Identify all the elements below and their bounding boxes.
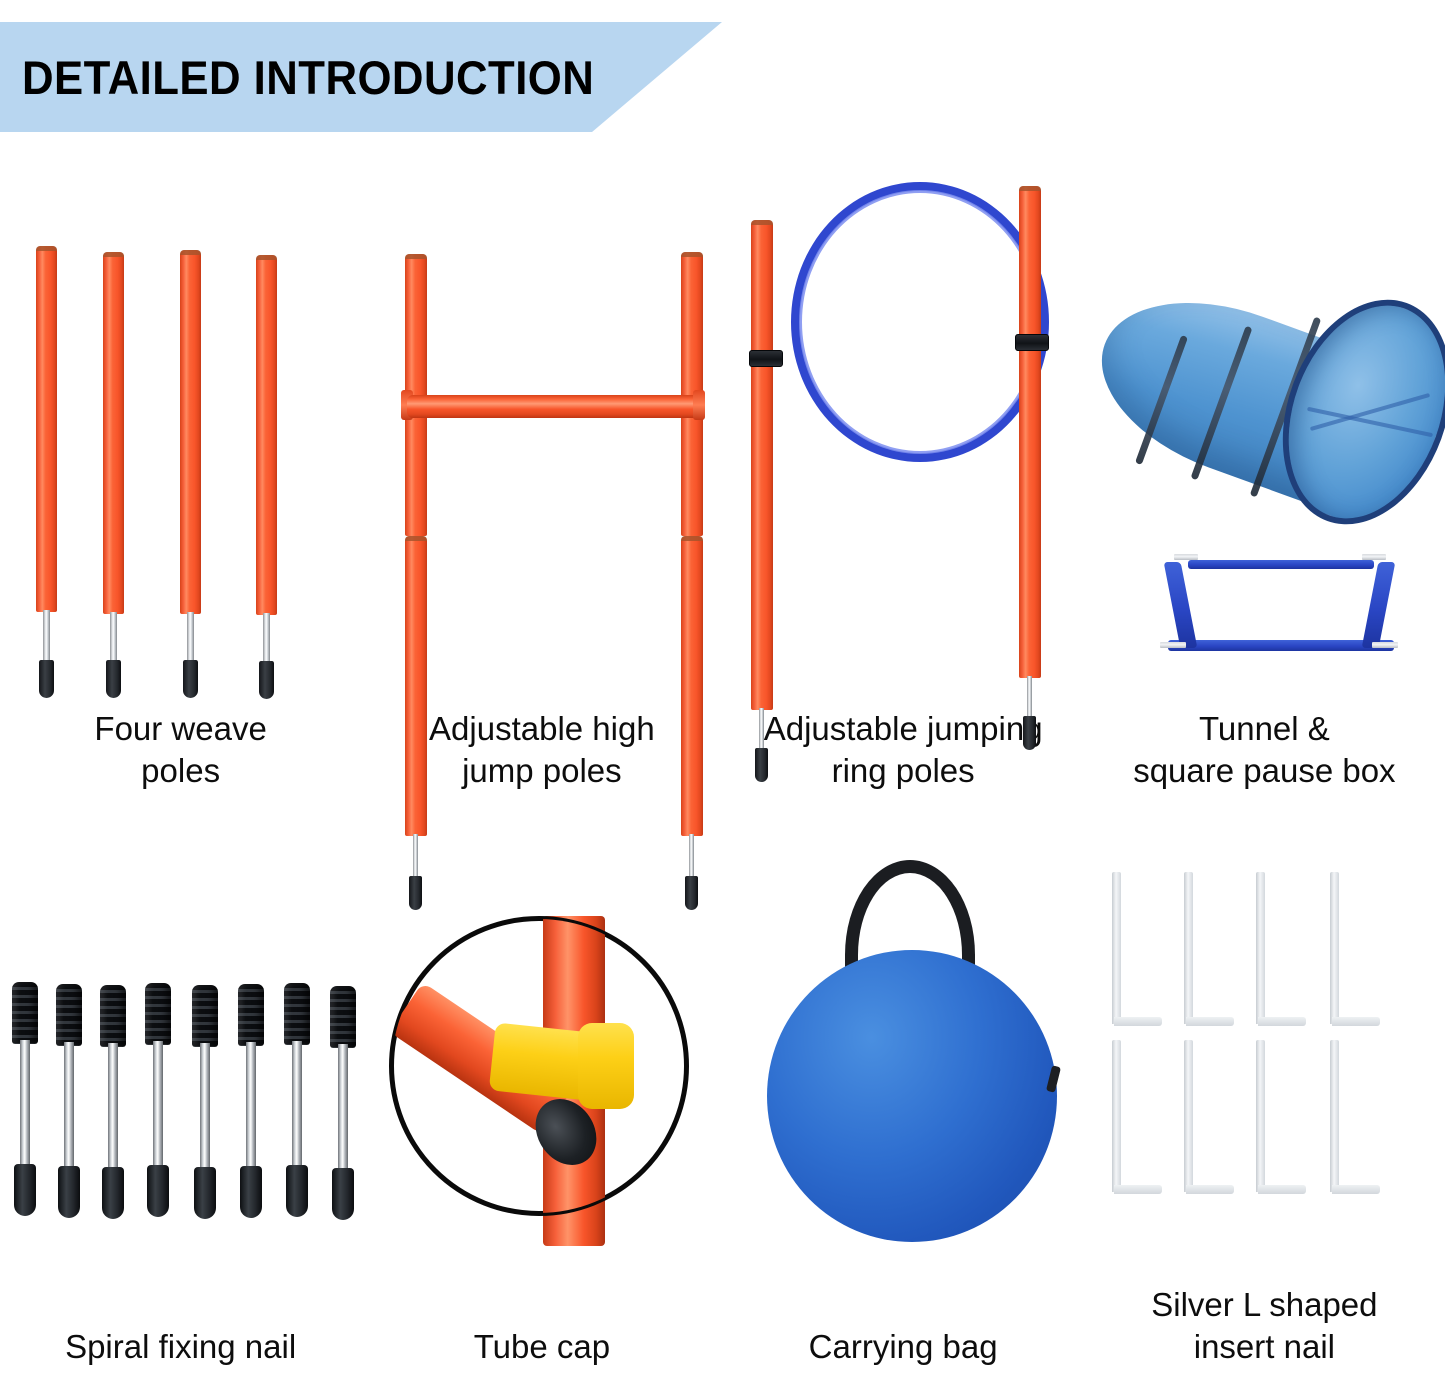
product-cell-l-nail: Silver L shaped insert nail xyxy=(1084,830,1445,1382)
black-cap-icon xyxy=(194,1167,216,1219)
silver-shaft-icon xyxy=(292,1041,302,1171)
black-rubber-tip-icon xyxy=(1023,716,1036,750)
caption-tube-cap: Tube cap xyxy=(468,1326,616,1368)
l-nail-foot xyxy=(1186,1017,1234,1026)
blue-tunnel-icon xyxy=(1092,270,1442,540)
silver-shaft-icon xyxy=(263,613,270,667)
l-nail-shaft xyxy=(1330,872,1339,1024)
silver-shaft-icon xyxy=(338,1044,348,1174)
threaded-head xyxy=(192,985,218,1047)
black-cap-icon xyxy=(58,1166,80,1218)
orange-pole-icon xyxy=(751,220,773,710)
tube-cap-illustration xyxy=(361,830,722,1326)
yellow-connector-icon xyxy=(578,1023,634,1109)
black-clip-icon xyxy=(749,350,783,367)
caption-high-jump: Adjustable high jump poles xyxy=(423,708,661,792)
black-rubber-tip-icon xyxy=(106,660,121,698)
blue-round-bag xyxy=(767,950,1057,1242)
crossbar-collar-right xyxy=(693,390,705,420)
l-nail-shaft xyxy=(1256,872,1265,1024)
l-nail-shaft xyxy=(1184,872,1193,1024)
silver-shaft-icon xyxy=(64,1042,74,1172)
pause-box-bar-top xyxy=(1188,560,1374,569)
corner-stake-icon xyxy=(1372,642,1398,648)
threaded-head xyxy=(56,984,82,1046)
orange-crossbar-icon xyxy=(407,395,705,418)
pause-box-bar-left xyxy=(1163,562,1197,648)
threaded-head xyxy=(145,983,171,1045)
threaded-head xyxy=(12,982,38,1044)
silver-shaft-icon xyxy=(153,1041,163,1171)
carrying-bag-illustration xyxy=(723,830,1084,1326)
orange-pole-icon xyxy=(681,536,703,836)
corner-stake-icon xyxy=(1160,642,1186,648)
pause-box-bar-right xyxy=(1361,562,1395,648)
product-cell-weave-poles: Four weave poles xyxy=(0,150,361,810)
weave-poles-illustration xyxy=(0,150,361,708)
silver-shaft-icon xyxy=(246,1042,256,1172)
blue-ring-highlight xyxy=(799,190,1041,454)
l-nail-foot xyxy=(1332,1017,1380,1026)
black-cap-icon xyxy=(147,1165,169,1217)
black-rubber-tip-icon xyxy=(259,661,274,699)
threaded-head xyxy=(100,985,126,1047)
black-rubber-tip-icon xyxy=(755,748,768,782)
orange-pole-icon xyxy=(103,252,124,614)
black-rubber-tip-icon xyxy=(39,660,54,698)
l-nail-shaft xyxy=(1112,872,1121,1024)
l-nail-foot xyxy=(1114,1185,1162,1194)
page-title: DETAILED INTRODUCTION xyxy=(22,50,594,105)
threaded-head xyxy=(330,986,356,1048)
silver-shaft-icon xyxy=(187,612,194,666)
caption-tunnel-pausebox: Tunnel & square pause box xyxy=(1127,708,1401,792)
tube-cap-detail-clip xyxy=(392,919,686,1213)
carrying-bag-icon xyxy=(749,856,1069,1256)
l-nail-illustration xyxy=(1084,830,1445,1284)
black-cap-icon xyxy=(102,1167,124,1219)
orange-pole-icon xyxy=(405,536,427,836)
silver-shaft-icon xyxy=(20,1040,30,1170)
high-jump-illustration xyxy=(361,150,722,708)
silver-shaft-icon xyxy=(200,1043,210,1173)
pause-box-bar-bottom xyxy=(1168,640,1394,651)
l-nail-foot xyxy=(1186,1185,1234,1194)
product-cell-jumping-ring: Adjustable jumping ring poles xyxy=(723,150,1084,810)
l-nail-shaft xyxy=(1330,1040,1339,1192)
spiral-nail-illustration xyxy=(0,830,361,1326)
black-rubber-tip-icon xyxy=(183,660,198,698)
silver-shaft-icon xyxy=(43,610,50,666)
product-cell-carrying-bag: Carrying bag xyxy=(723,830,1084,1382)
tunnel-pausebox-illustration xyxy=(1084,150,1445,708)
orange-pole-icon xyxy=(36,246,57,612)
l-nail-foot xyxy=(1114,1017,1162,1026)
threaded-head xyxy=(238,984,264,1046)
black-cap-icon xyxy=(332,1168,354,1220)
top-product-row: Four weave poles Adjustable high jump po… xyxy=(0,150,1445,810)
bottom-product-row: Spiral fixing nail Tube cap C xyxy=(0,830,1445,1382)
orange-pole-icon xyxy=(1019,186,1041,678)
silver-shaft-icon xyxy=(108,1043,118,1173)
corner-stake-icon xyxy=(1174,554,1198,560)
l-nail-shaft xyxy=(1184,1040,1193,1192)
product-cell-tunnel-pausebox: Tunnel & square pause box xyxy=(1084,150,1445,810)
product-cell-spiral-nail: Spiral fixing nail xyxy=(0,830,361,1382)
black-cap-icon xyxy=(14,1164,36,1216)
product-cell-high-jump: Adjustable high jump poles xyxy=(361,150,722,810)
silver-shaft-icon xyxy=(110,612,117,666)
caption-l-nail: Silver L shaped insert nail xyxy=(1145,1284,1383,1368)
blue-square-pause-box-icon xyxy=(1160,548,1400,666)
header-banner: DETAILED INTRODUCTION xyxy=(0,22,722,132)
l-nail-foot xyxy=(1332,1185,1380,1194)
l-nail-foot xyxy=(1258,1185,1306,1194)
l-nail-shaft xyxy=(1256,1040,1265,1192)
corner-stake-icon xyxy=(1362,554,1386,560)
black-clip-icon xyxy=(1015,334,1049,351)
orange-pole-icon xyxy=(256,255,277,615)
l-nail-shaft xyxy=(1112,1040,1121,1192)
caption-jumping-ring: Adjustable jumping ring poles xyxy=(758,708,1049,792)
caption-spiral-nail: Spiral fixing nail xyxy=(59,1326,302,1368)
l-nail-foot xyxy=(1258,1017,1306,1026)
product-cell-tube-cap: Tube cap xyxy=(361,830,722,1382)
caption-weave-poles: Four weave poles xyxy=(88,708,272,792)
black-cap-icon xyxy=(286,1165,308,1217)
jumping-ring-illustration xyxy=(723,150,1084,708)
orange-pole-icon xyxy=(180,250,201,614)
threaded-head xyxy=(284,983,310,1045)
caption-carrying-bag: Carrying bag xyxy=(803,1326,1004,1368)
black-cap-icon xyxy=(240,1166,262,1218)
